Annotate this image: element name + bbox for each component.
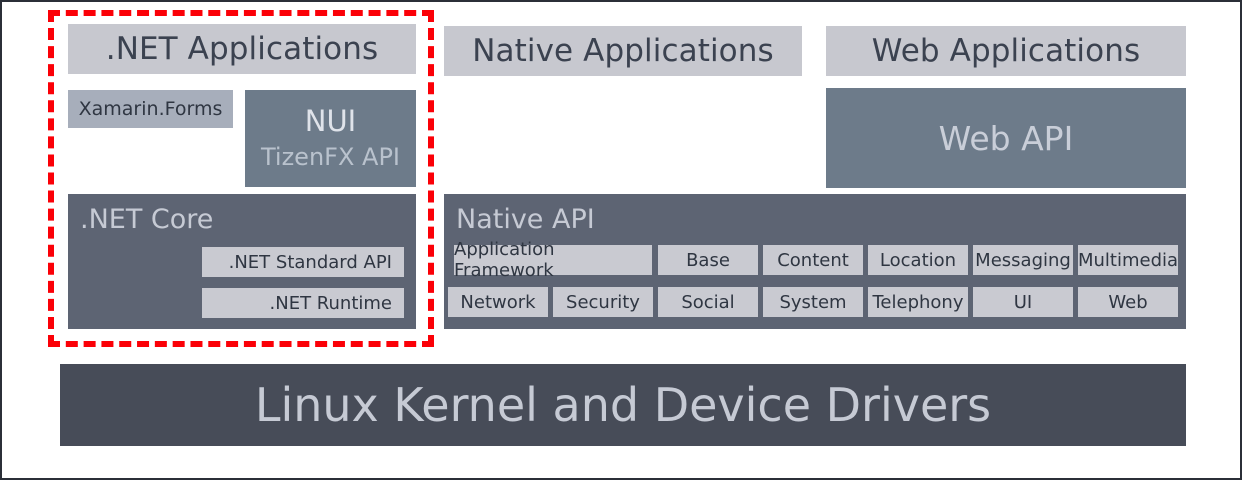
- header-dotnet-applications-label: .NET Applications: [106, 31, 378, 67]
- block-native-api-title: Native API: [456, 204, 595, 235]
- native-chip-application-framework: Application Framework: [454, 245, 652, 275]
- native-chip-label: Web: [1108, 292, 1147, 313]
- architecture-diagram: .NET Applications Native Applications We…: [0, 0, 1242, 480]
- native-chip-label: Messaging: [975, 250, 1071, 271]
- native-chip-security: Security: [553, 287, 653, 317]
- block-dotnet-standard-api: .NET Standard API: [202, 247, 404, 277]
- block-dotnet-standard-api-label: .NET Standard API: [229, 252, 392, 273]
- block-xamarin-forms-label: Xamarin.Forms: [79, 98, 223, 120]
- native-chip-label: Content: [777, 250, 849, 271]
- block-dotnet-runtime-label: .NET Runtime: [270, 293, 392, 314]
- header-native-applications: Native Applications: [444, 26, 802, 76]
- block-nui-subtitle: TizenFX API: [261, 143, 400, 171]
- header-native-applications-label: Native Applications: [472, 33, 774, 69]
- block-nui-title: NUI: [305, 106, 356, 136]
- native-chip-label: Application Framework: [454, 239, 652, 281]
- native-chip-web: Web: [1078, 287, 1178, 317]
- native-chip-label: Telephony: [873, 292, 964, 313]
- header-web-applications-label: Web Applications: [872, 33, 1140, 69]
- native-chip-label: Network: [460, 292, 535, 313]
- native-chip-location: Location: [868, 245, 968, 275]
- block-xamarin-forms: Xamarin.Forms: [68, 90, 233, 128]
- block-web-api: Web API: [826, 88, 1186, 188]
- native-chip-label: Security: [566, 292, 640, 313]
- native-chip-label: Base: [686, 250, 730, 271]
- header-dotnet-applications: .NET Applications: [68, 24, 416, 74]
- block-dotnet-core-title: .NET Core: [80, 204, 213, 235]
- native-chip-content: Content: [763, 245, 863, 275]
- native-chip-telephony: Telephony: [868, 287, 968, 317]
- native-chip-label: System: [779, 292, 846, 313]
- native-chip-social: Social: [658, 287, 758, 317]
- block-linux-kernel: Linux Kernel and Device Drivers: [60, 364, 1186, 446]
- native-chip-base: Base: [658, 245, 758, 275]
- native-chip-label: Location: [880, 250, 956, 271]
- header-web-applications: Web Applications: [826, 26, 1186, 76]
- block-dotnet-runtime: .NET Runtime: [202, 288, 404, 318]
- native-chip-label: Social: [681, 292, 734, 313]
- block-web-api-label: Web API: [826, 88, 1186, 188]
- native-chip-label: Multimedia: [1078, 250, 1178, 271]
- native-chip-system: System: [763, 287, 863, 317]
- native-chip-messaging: Messaging: [973, 245, 1073, 275]
- block-nui: NUI TizenFX API: [245, 90, 416, 187]
- block-linux-kernel-label: Linux Kernel and Device Drivers: [255, 378, 991, 432]
- native-chip-label: UI: [1014, 292, 1032, 313]
- native-chip-ui: UI: [973, 287, 1073, 317]
- native-chip-multimedia: Multimedia: [1078, 245, 1178, 275]
- native-chip-network: Network: [448, 287, 548, 317]
